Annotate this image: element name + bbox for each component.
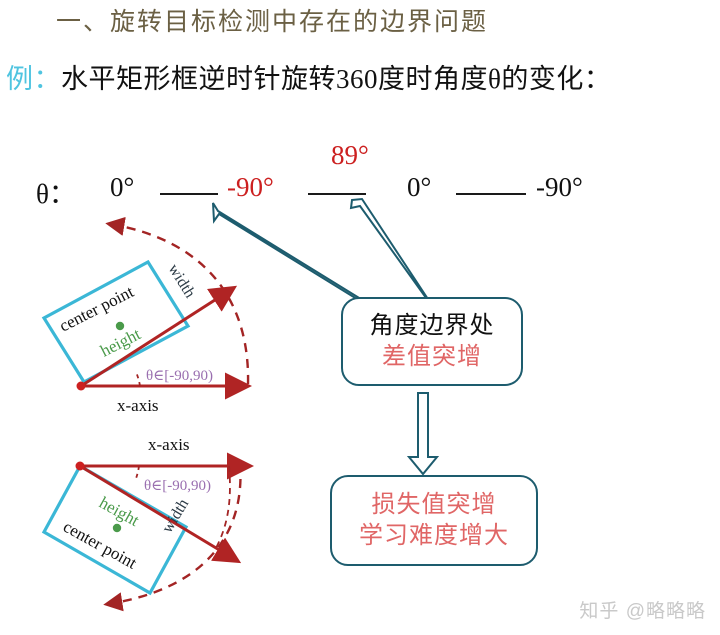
sequence-dash-3 (456, 193, 526, 195)
label-x-axis-top: x-axis (117, 396, 159, 415)
slide-canvas: 一、旋转目标检测中存在的边界问题 例：水平矩形框逆时针旋转360度时角度θ的变化… (0, 0, 720, 635)
angle-indicator-bottom (135, 466, 139, 481)
flow-box-loss-spike-line2: 学习难度增大 (359, 521, 509, 552)
flow-box-loss-spike-line1: 损失值突增 (372, 490, 497, 521)
angle-value-0: 0° (110, 172, 134, 203)
origin-point-bottom (76, 462, 85, 471)
angle-value-2: 0° (407, 172, 431, 203)
label-x-axis-bottom: x-axis (148, 435, 190, 454)
sequence-dash-2 (308, 193, 366, 195)
example-text: 水平矩形框逆时针旋转360度时角度θ的变化： (61, 64, 611, 94)
rotation-arc-top (110, 224, 248, 384)
callout-89-degrees: 89° (331, 140, 369, 171)
center-point-dot-top (116, 322, 124, 330)
label-center-point-bottom: center point (60, 517, 140, 573)
angle-value-3: -90° (536, 172, 583, 203)
example-prefix: 例： (6, 64, 61, 94)
watermark: 知乎 @略略略 (579, 596, 706, 623)
rotated-axis-ray-top (81, 289, 232, 386)
flow-box-loss-spike: 损失值突增 学习难度增大 (330, 475, 538, 566)
angle-sequence: θ： 0° -90° 0° -90° (36, 172, 656, 212)
example-line: 例：水平矩形框逆时针旋转360度时角度θ的变化： (6, 57, 611, 96)
section-title: 一、旋转目标检测中存在的边界问题 (56, 2, 488, 38)
diagram-bottom-group: center point width height x-axis θ∈[-90,… (44, 435, 248, 604)
diagram-top-group: center point width height x-axis θ∈[-90,… (44, 224, 248, 415)
angle-sequence-label: θ： (36, 172, 76, 211)
rotated-axis-ray-bottom (80, 466, 236, 560)
label-height-top: height (97, 324, 144, 360)
bbox-rect-top (44, 262, 188, 382)
label-width-bottom: width (159, 496, 192, 536)
label-angle-range-bottom: θ∈[-90,90) (144, 478, 211, 494)
label-center-point-top: center point (56, 282, 137, 336)
angle-sweep-dashed-bottom (216, 466, 230, 548)
flow-box-angle-boundary: 角度边界处 差值突增 (341, 297, 523, 386)
rotation-arc-bottom (108, 463, 241, 604)
center-point-dot-bottom (113, 524, 121, 532)
bbox-rect-bottom (44, 466, 186, 593)
label-angle-range-top: θ∈[-90,90) (146, 368, 213, 384)
hollow-arrow-down (409, 393, 437, 474)
label-height-bottom: height (96, 493, 143, 530)
flow-box-angle-boundary-line2: 差值突增 (382, 342, 482, 373)
sequence-dash-1 (160, 193, 218, 195)
angle-value-1: -90° (227, 172, 274, 203)
origin-point-top (77, 382, 86, 391)
angle-indicator-top (136, 372, 140, 386)
flow-box-angle-boundary-line1: 角度边界处 (370, 311, 495, 342)
label-width-top: width (165, 261, 199, 301)
